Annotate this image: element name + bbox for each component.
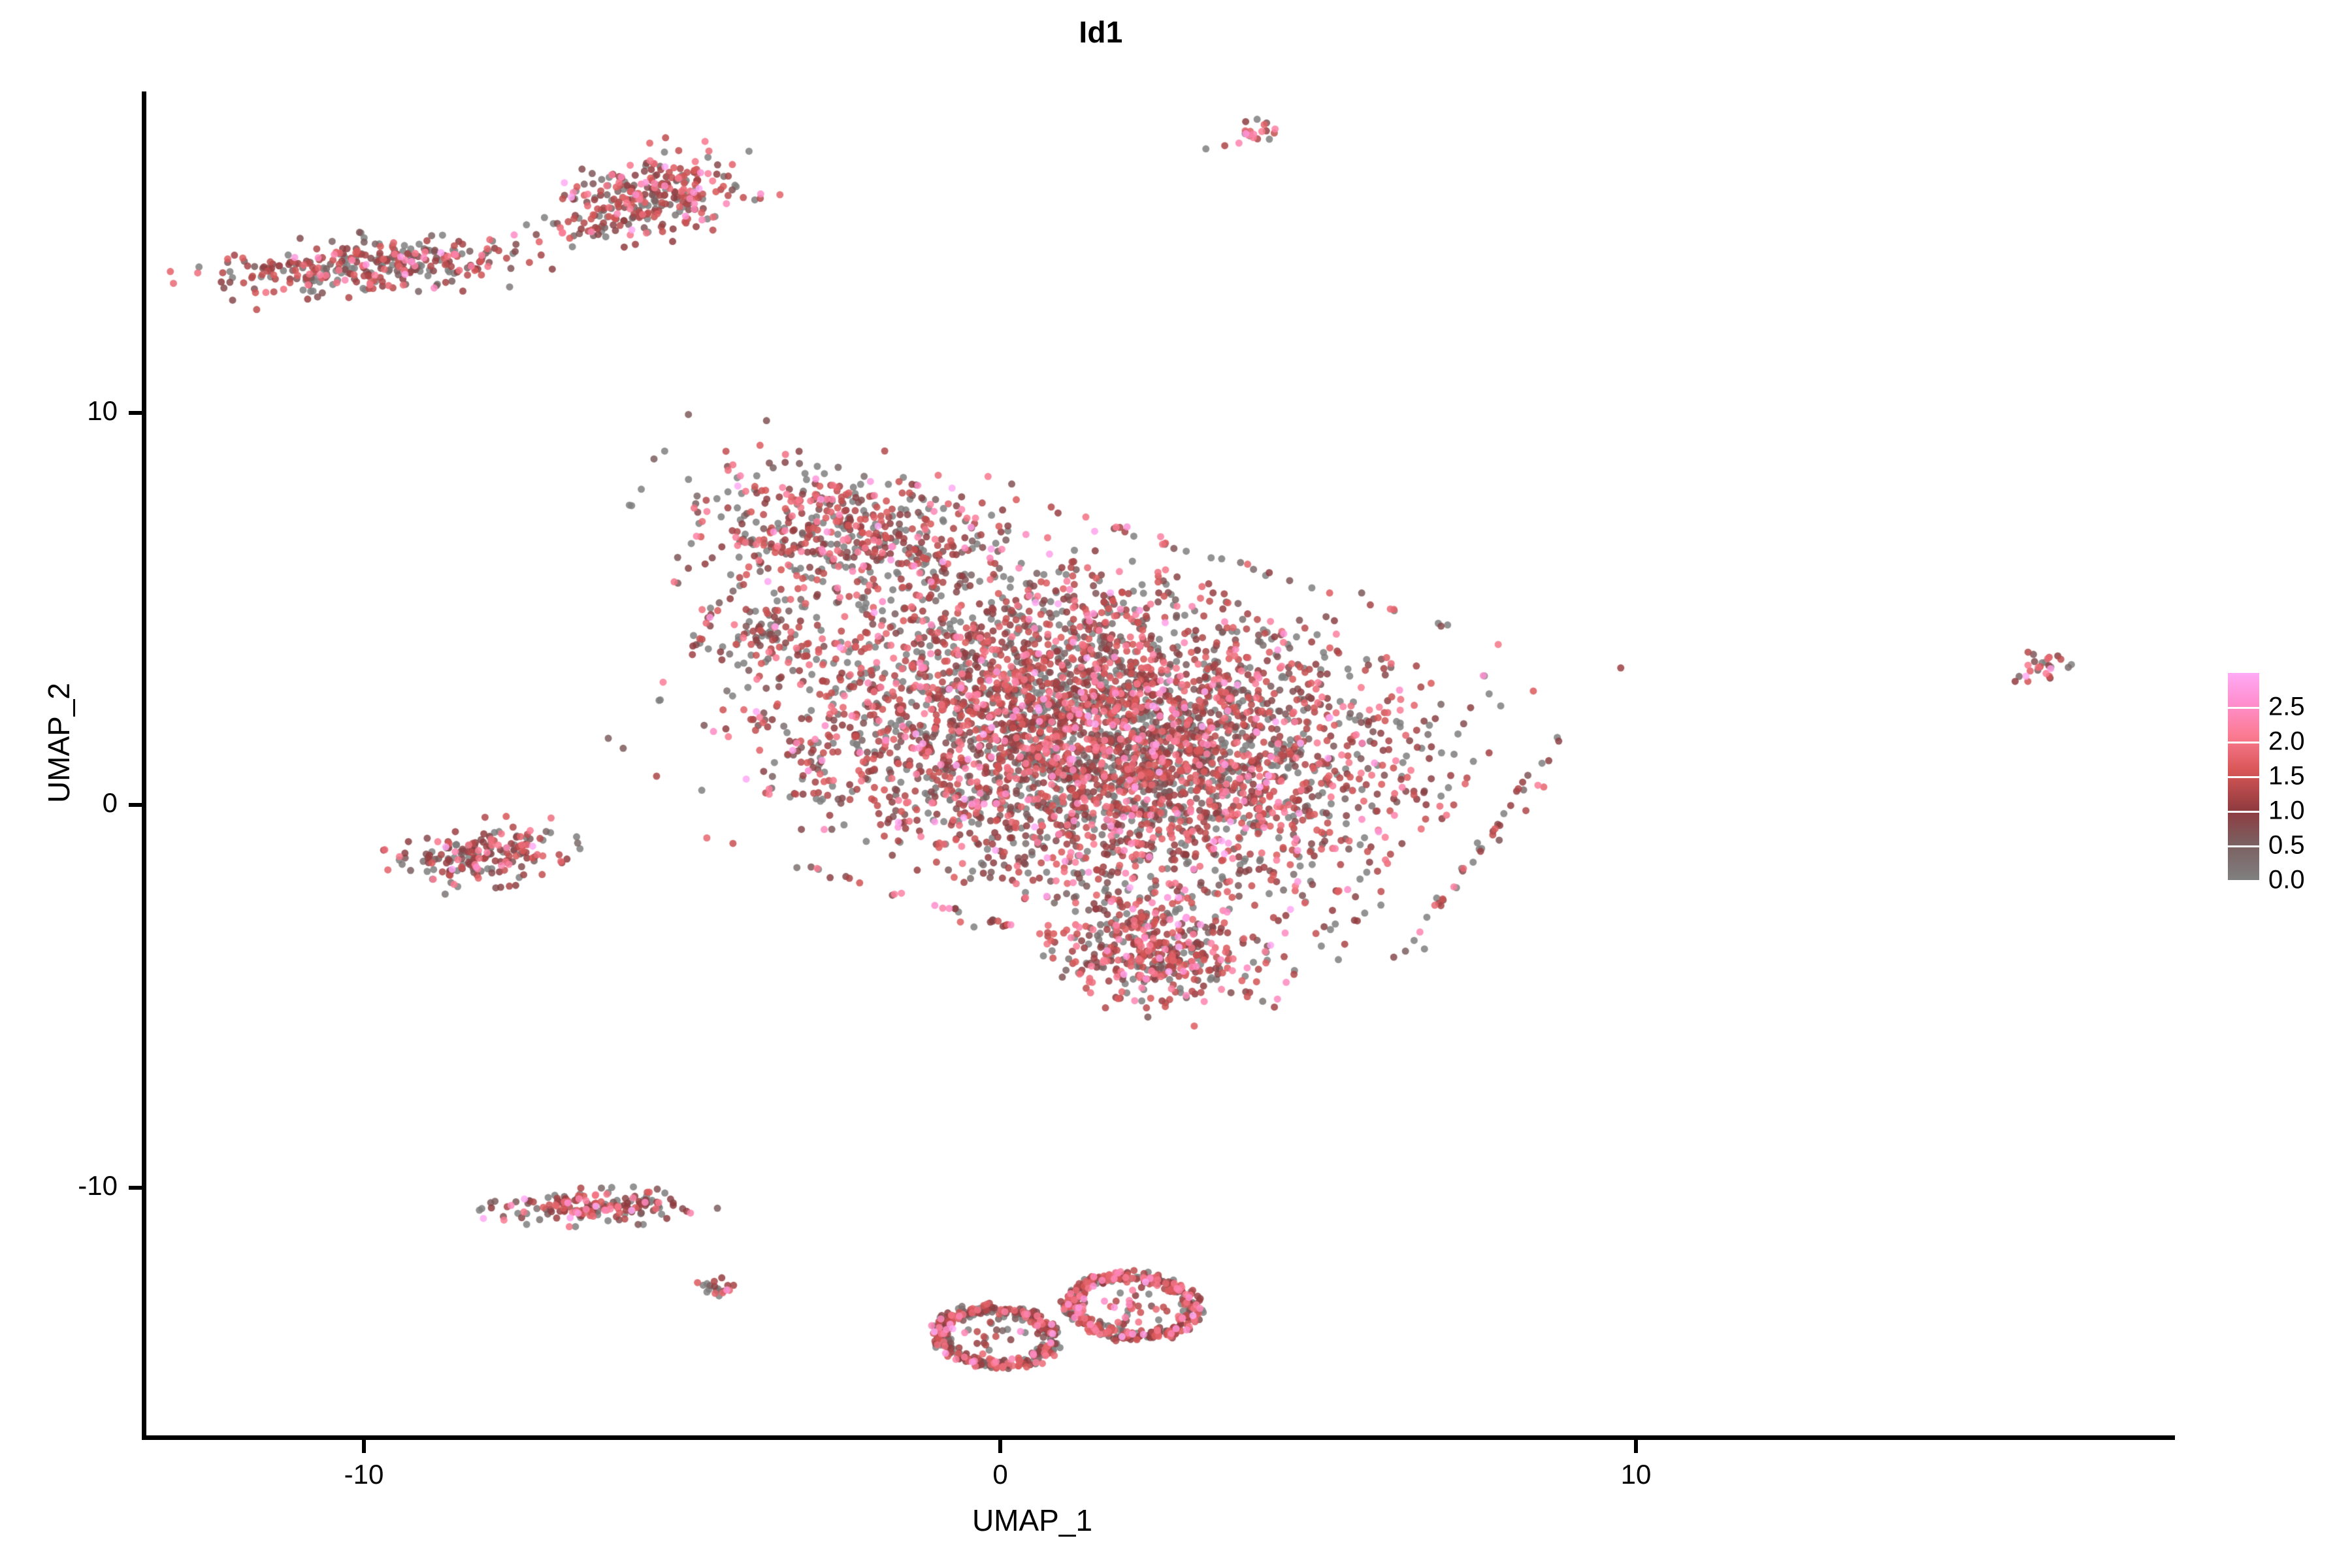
- scatter-points-layer: [146, 91, 2175, 1439]
- legend-colorbar: 2.5 2.0 1.5 1.0 0.5 0.0: [2228, 666, 2345, 895]
- colorbar-tick-2_0: [2228, 742, 2259, 743]
- y-tick-mark-10: [129, 411, 142, 415]
- x-tick-mark-0: [998, 1440, 1002, 1453]
- umap-feature-plot: Id1 10 0 -10 -10 0 10 UMAP_1 UMAP_2 2.5 …: [0, 0, 2352, 1568]
- colorbar-tick-1_0: [2228, 811, 2259, 813]
- colorbar-tick-0_5: [2228, 845, 2259, 847]
- x-tick-label-0: 0: [935, 1459, 1066, 1490]
- colorbar-label-2_0: 2.0: [2268, 727, 2305, 757]
- y-tick-mark-neg10: [129, 1186, 142, 1190]
- y-tick-label-neg10: -10: [7, 1170, 118, 1201]
- colorbar-tick-0_0: [2228, 880, 2259, 882]
- x-tick-mark-neg10: [362, 1440, 366, 1453]
- colorbar-tick-1_5: [2228, 776, 2259, 778]
- y-axis-title: UMAP_2: [41, 612, 76, 874]
- y-axis-line: [142, 91, 146, 1440]
- x-tick-mark-10: [1634, 1440, 1638, 1453]
- x-axis-title: UMAP_1: [902, 1503, 1163, 1538]
- colorbar-label-0_0: 0.0: [2268, 866, 2305, 895]
- y-tick-label-10: 10: [7, 395, 118, 427]
- page-title: Id1: [0, 14, 2202, 50]
- plot-panel: [146, 91, 2175, 1439]
- colorbar-label-1_0: 1.0: [2268, 796, 2305, 826]
- x-axis-line: [142, 1435, 2175, 1440]
- colorbar-tick-2_5: [2228, 707, 2259, 709]
- colorbar-label-0_5: 0.5: [2268, 831, 2305, 860]
- colorbar-label-2_5: 2.5: [2268, 693, 2305, 722]
- y-tick-mark-0: [129, 803, 142, 807]
- colorbar-label-1_5: 1.5: [2268, 762, 2305, 791]
- x-tick-label-10: 10: [1571, 1459, 1701, 1490]
- x-tick-label-neg10: -10: [299, 1459, 429, 1490]
